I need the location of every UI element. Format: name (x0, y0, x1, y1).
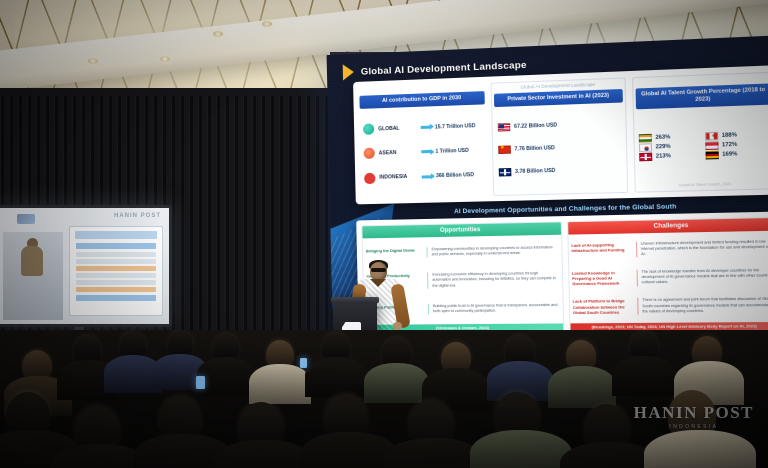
audience-shoulders-front (470, 430, 572, 468)
talent-row-value: 229% (656, 143, 671, 150)
panel-gdp: AI contribution to GDP in 2030 GLOBAL 15… (359, 83, 486, 199)
challenge-text: Uneven infrastructure development and li… (641, 239, 768, 258)
panel-investment-rows: 67.22 Billion USD 7.76 Billion USD 3.78 … (494, 102, 625, 193)
confidence-monitor: HANIN POST (0, 205, 172, 327)
globe-icon (363, 124, 374, 135)
podium-top-surface (331, 297, 379, 303)
divider (427, 273, 428, 289)
de-flag-icon (706, 150, 719, 159)
preview-row (76, 266, 156, 271)
broadcast-logo-icon (17, 214, 35, 224)
gdp-row-label: ASEAN (379, 149, 418, 156)
gdp-row-value: 15.7 Trillion USD (435, 123, 476, 130)
gdp-row: GLOBAL 15.7 Trillion USD (363, 120, 482, 135)
opportunity-key: Bridging the Digital Divide (366, 247, 423, 253)
downlight (262, 21, 272, 27)
divider (426, 247, 427, 257)
arrow-right-icon (421, 126, 431, 129)
investment-row: 3.78 Billion USD (498, 165, 621, 177)
divider (636, 270, 637, 286)
challenges-body: Lack of AI-supporting Infrastructure and… (568, 231, 768, 324)
investment-row: 67.22 Billion USD (497, 119, 620, 131)
investment-row-value: 3.78 Billion USD (515, 168, 555, 175)
confidence-monitor-slide-preview (69, 226, 163, 316)
investment-row-value: 7.76 Billion USD (515, 145, 555, 152)
watermark-title: HANIN POST (634, 403, 754, 423)
talent-row: 229% (639, 141, 702, 151)
downlight (213, 31, 223, 37)
gdp-row-value: 1 Trillion USD (435, 148, 468, 155)
preview-row (76, 280, 156, 285)
glasses-icon (371, 268, 386, 272)
talent-row: 169% (706, 149, 768, 159)
preview-row (76, 243, 156, 249)
opportunity-text: Building public trust in AI governance t… (433, 303, 559, 315)
talent-row-value: 263% (655, 134, 670, 141)
challenge-text: There is no agreement and joint forum th… (642, 297, 768, 315)
challenges-column: Challenges Lack of AI-supporting Infrast… (567, 217, 768, 333)
challenge-key: Lack of Platform to Bridge Collaboration… (573, 298, 633, 315)
confidence-monitor-watermark: HANIN POST (114, 213, 161, 219)
speaker-feed-body-icon (21, 246, 43, 276)
challenge-key: Lack of AI-supporting Infrastructure and… (571, 242, 631, 254)
investment-row-value: 67.22 Billion USD (514, 122, 557, 130)
indonesia-icon (364, 172, 375, 183)
divider (428, 304, 429, 314)
preview-row (76, 252, 156, 257)
audience-shoulders (612, 356, 676, 396)
panel-gdp-rows: GLOBAL 15.7 Trillion USD ASEAN 1 Trillio… (360, 104, 487, 199)
opportunity-row: Bridging the Digital Divide Empowering c… (366, 245, 558, 259)
challenge-row: Lack of AI-supporting Infrastructure and… (571, 239, 768, 259)
in-flag-icon (639, 134, 652, 143)
conference-photo-scene: HANIN POST Global AI Development Landsca… (0, 0, 768, 468)
uk-flag-icon (498, 168, 511, 177)
talent-row-value: 188% (722, 132, 737, 139)
preview-row (76, 273, 156, 278)
challenge-row: Limited Knowledge in Preparing a Good AI… (572, 268, 768, 287)
talent-row-value: 213% (656, 153, 671, 160)
gdp-row-value: 366 Billion USD (436, 172, 474, 179)
talent-row-value: 169% (722, 151, 737, 158)
downlight (88, 58, 98, 64)
audience-phone-screen (300, 358, 307, 368)
preview-row (76, 259, 156, 264)
challenge-text: The lack of knowledge transfer from AI d… (641, 268, 768, 286)
audience-shoulders (548, 366, 616, 408)
preview-header-bar (75, 231, 157, 239)
gdp-row-label: GLOBAL (378, 125, 417, 132)
preview-row (76, 287, 156, 292)
landscape-card: AI contribution to GDP in 2030 GLOBAL 15… (353, 65, 768, 204)
audience-shoulders (197, 357, 255, 395)
sg-flag-icon (705, 141, 718, 150)
audience-shoulders (364, 363, 429, 403)
us-flag-icon (497, 123, 510, 132)
opportunity-text: Increasing economic efficiency in develo… (432, 271, 558, 288)
challenge-row: Lack of Platform to Bridge Collaboration… (573, 297, 768, 315)
ca-flag-icon: 🍁 (705, 131, 718, 140)
cn-flag-icon (498, 145, 511, 154)
audience-phone-screen (196, 376, 205, 389)
dk-flag-icon (640, 152, 653, 161)
asean-icon (364, 148, 375, 159)
arrow-right-icon (421, 150, 431, 153)
gdp-row-label: INDONESIA (379, 174, 418, 181)
gdp-row: INDONESIA 366 Billion USD (364, 169, 483, 183)
divider (635, 241, 636, 257)
audience-shoulders (305, 357, 367, 397)
downlight (160, 56, 170, 62)
audience-shoulders-front (644, 430, 756, 468)
opportunity-text: Empowering communities in developing cou… (432, 245, 558, 258)
divider (637, 298, 638, 314)
preview-footer-bar (76, 295, 156, 301)
challenge-key: Limited Knowledge in Preparing a Good AI… (572, 270, 632, 287)
arrow-right-icon (422, 175, 432, 178)
talent-row: 213% (640, 151, 703, 161)
audience-seating (0, 330, 768, 468)
speaker-video-feed (3, 232, 63, 320)
investment-row: 7.76 Billion USD (498, 142, 621, 154)
chevron-right-icon (343, 64, 354, 80)
audience-shoulders (249, 364, 311, 404)
talent-row-value: 172% (722, 141, 737, 148)
publisher-watermark: HANIN POST INDONESIA (634, 403, 754, 430)
kr-flag-icon (639, 143, 652, 152)
panel-investment: Global AI Development Landscape Private … (490, 77, 628, 196)
panel-talent: Global AI Talent Growth Percentage (2018… (632, 72, 768, 193)
watermark-subtitle: INDONESIA (634, 424, 754, 430)
speaker-hand (393, 322, 402, 330)
opportunities-challenges-card: Opportunities Bridging the Digital Divid… (356, 211, 768, 338)
gdp-row: ASEAN 1 Trillion USD (364, 145, 483, 160)
panel-talent-rows: 263% 🍁 188% 229% 172% (636, 104, 768, 184)
talent-row: 172% (705, 139, 768, 149)
